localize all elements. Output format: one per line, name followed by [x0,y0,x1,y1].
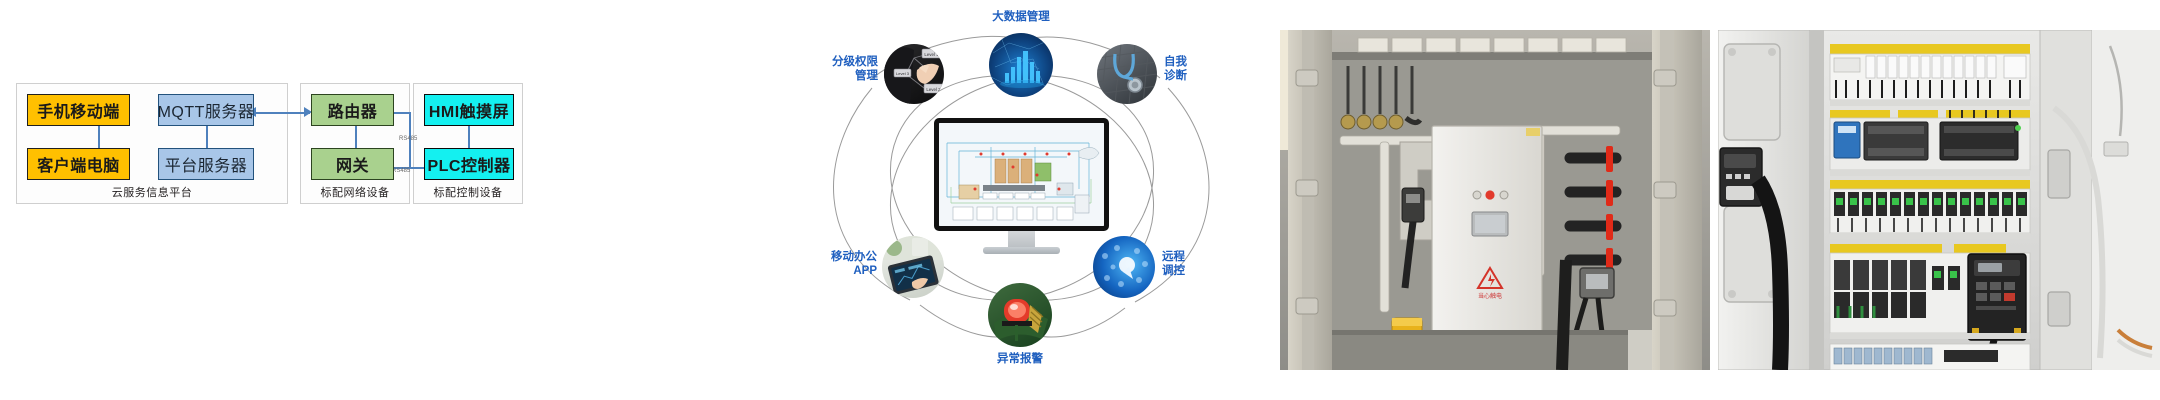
node-router[interactable]: 路由器 [311,94,394,126]
node-platform-server-label: 平台服务器 [165,152,248,176]
node-mqtt-server[interactable]: MQTT服务器 [158,94,254,126]
connector-riser-top-h [392,112,410,114]
bigdata-icon [989,33,1053,97]
node-hmi-touchscreen-label: HMI触摸屏 [429,98,509,122]
node-alarm-circle[interactable] [988,283,1052,347]
node-router-label: 路由器 [328,98,378,122]
node-bigdata-circle[interactable] [989,33,1053,97]
cabinet-photos: 当心触电 [1280,0,2160,400]
node-permission-circle[interactable]: Level 1 Level 3 Level 2 [884,44,944,104]
system-architecture-diagram: 云服务信息平台 标配网络设备 标配控制设备 RS485 RS485 手机移动端 … [0,0,760,400]
connector-mqtt-router [252,112,310,114]
group-network-devices-label: 标配网络设备 [301,184,409,200]
node-permission-label: 分级权限 管理 [782,55,878,84]
monitor-base [983,247,1060,254]
svg-text:Level 1: Level 1 [924,52,939,57]
node-hmi-touchscreen[interactable]: HMI触摸屏 [424,94,514,126]
node-gateway[interactable]: 网关 [311,148,394,180]
stethoscope-icon [1097,44,1157,104]
permission-levels-icon: Level 1 Level 3 Level 2 [884,44,944,104]
photo-cabinet-plc [1718,30,2160,370]
svg-text:Level 2: Level 2 [926,87,941,92]
node-mobile-client[interactable]: 手机移动端 [27,94,130,126]
alarm-beacon-icon [988,283,1052,347]
node-remote-label: 远程 调控 [1162,250,1185,279]
node-mqtt-server-label: MQTT服务器 [158,98,255,122]
wire-label-1: RS485 [392,168,410,174]
monitor-screen [939,123,1104,226]
node-plc-controller[interactable]: PLC控制器 [424,148,514,180]
node-alarm-label: 异常报警 [973,352,1067,366]
svg-text:Level 3: Level 3 [896,71,910,76]
node-mobileapp-label: 移动办公 APP [795,250,877,279]
node-gateway-label: 网关 [336,152,369,176]
node-desktop-client[interactable]: 客户端电脑 [27,148,130,180]
node-plc-controller-label: PLC控制器 [427,152,510,176]
node-selfdiag-label: 自我 诊断 [1164,55,1187,84]
group-control-devices-label: 标配控制设备 [414,184,522,200]
capability-radial-infographic: 大数据管理 自我 诊断 [760,0,1280,400]
photo-cabinet-outdoor: 当心触电 [1280,30,1710,370]
node-mobile-client-label: 手机移动端 [37,98,120,122]
scada-monitor[interactable] [934,118,1109,258]
node-bigdata-label: 大数据管理 [974,10,1068,24]
node-desktop-client-label: 客户端电脑 [37,152,120,176]
monitor-bezel [934,118,1109,231]
node-platform-server[interactable]: 平台服务器 [158,148,254,180]
warning-label: 当心触电 [1478,292,1502,300]
wire-label-0: RS485 [399,136,417,142]
scada-schematic [939,123,1104,226]
group-cloud-platform-label: 云服务信息平台 [17,184,287,200]
node-selfdiag-circle[interactable] [1097,44,1157,104]
